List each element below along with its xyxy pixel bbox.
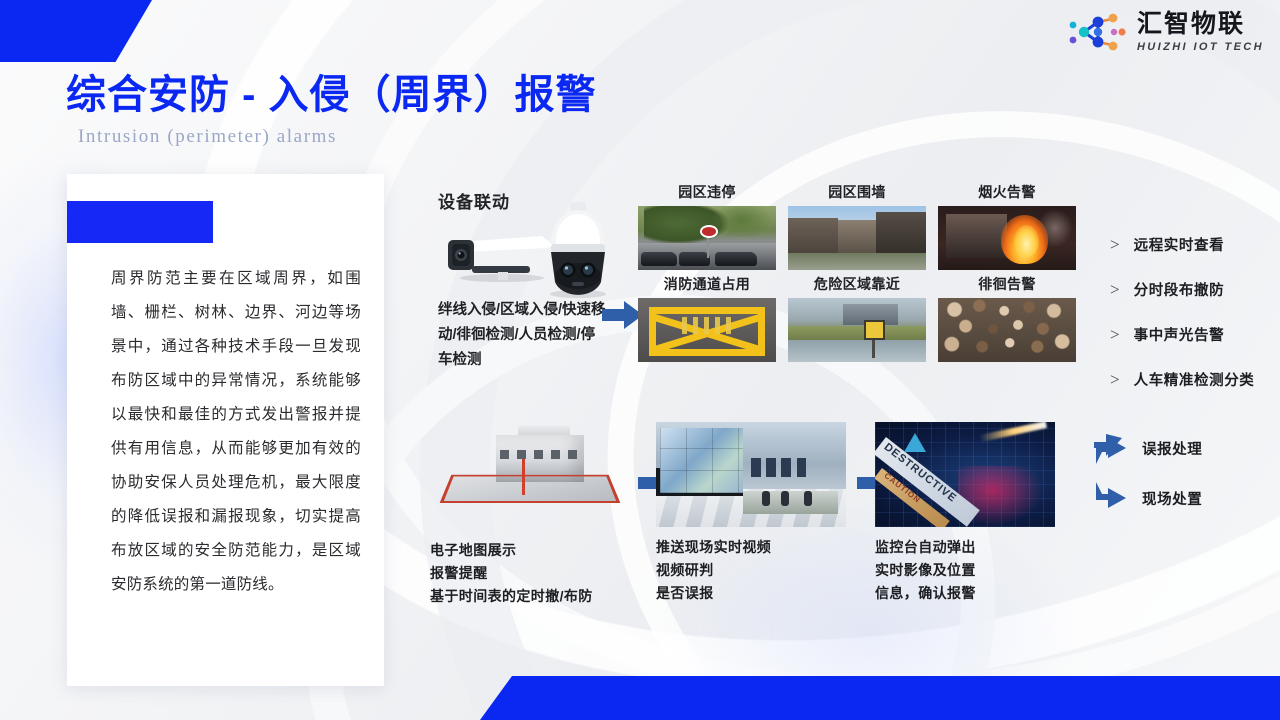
capability-label: 分时段布撤防 bbox=[1134, 279, 1225, 300]
flow-caption-line: 报警提醒 bbox=[430, 562, 640, 585]
flow-caption-line: 基于时间表的定时撤/布防 bbox=[430, 585, 640, 608]
scenario-label: 消防通道占用 bbox=[638, 274, 776, 294]
logo-text-block: 汇智物联 HUIZHI IOT TECH bbox=[1137, 12, 1264, 53]
scenario-image-crowd bbox=[938, 298, 1076, 362]
card-body-text: 周界防范主要在区域周界，如围墙、栅栏、树林、边界、河边等场景中，通过各种技术手段… bbox=[111, 262, 361, 602]
flow-step-control-room[interactable]: 推送现场实时视频 视频研判 是否误报 bbox=[656, 422, 876, 605]
scenario-grid: 园区违停 园区围墙 bbox=[638, 182, 1076, 366]
scenario-cell[interactable]: 园区围墙 bbox=[788, 182, 926, 270]
flow-caption-line: 信息，确认报警 bbox=[875, 582, 1085, 605]
flow-caption-line: 电子地图展示 bbox=[430, 539, 640, 562]
scenario-label: 徘徊告警 bbox=[938, 274, 1076, 294]
brand-logo: 汇智物联 HUIZHI IOT TECH bbox=[1068, 10, 1264, 54]
chevron-right-icon: > bbox=[1110, 325, 1120, 345]
scenario-image-fire bbox=[938, 206, 1076, 270]
flow-arrow-up-right bbox=[1092, 432, 1132, 466]
capability-item[interactable]: > 远程实时查看 bbox=[1110, 234, 1254, 255]
description-card: 周界防范主要在区域周界，如围墙、栅栏、树林、边界、河边等场景中，通过各种技术手段… bbox=[67, 174, 384, 686]
chevron-right-icon: > bbox=[1110, 370, 1120, 390]
flow-image-control-room bbox=[656, 422, 846, 527]
slide-root: 汇智物联 HUIZHI IOT TECH 综合安防 - 入侵（周界）报警 Int… bbox=[0, 0, 1280, 720]
device-section-title: 设备联动 bbox=[438, 188, 510, 213]
scenario-image-danger bbox=[788, 298, 926, 362]
chevron-right-icon: > bbox=[1110, 235, 1120, 255]
flow-step-alert-popup[interactable]: DESTRUCTIVE CAUTION 监控台自动弹出 实时影像及位置 信息，确… bbox=[875, 422, 1085, 605]
flow-caption-line: 推送现场实时视频 bbox=[656, 536, 876, 559]
scenario-image-parking bbox=[638, 206, 776, 270]
warning-triangle-icon bbox=[904, 433, 926, 452]
scenario-row-2: 消防通道占用 危险区域靠近 徘徊告警 bbox=[638, 274, 1076, 362]
diagram-area: 设备联动 bbox=[420, 170, 1280, 650]
scenario-label: 园区围墙 bbox=[788, 182, 926, 202]
scenario-cell[interactable]: 烟火告警 bbox=[938, 182, 1076, 270]
flow-caption-line: 监控台自动弹出 bbox=[875, 536, 1085, 559]
card-accent-bar bbox=[67, 201, 213, 243]
capability-label: 事中声光告警 bbox=[1134, 324, 1225, 345]
scenario-cell[interactable]: 危险区域靠近 bbox=[788, 274, 926, 362]
scenario-image-wall bbox=[788, 206, 926, 270]
flow-image-emap bbox=[430, 422, 630, 530]
scenario-cell[interactable]: 消防通道占用 bbox=[638, 274, 776, 362]
flow-caption-line: 视频研判 bbox=[656, 559, 876, 582]
top-left-blue-shape bbox=[0, 0, 152, 62]
capability-item[interactable]: > 事中声光告警 bbox=[1110, 324, 1254, 345]
scenario-label: 园区违停 bbox=[638, 182, 776, 202]
capability-list: > 远程实时查看 > 分时段布撤防 > 事中声光告警 > 人车精准检测分类 bbox=[1110, 234, 1254, 414]
device-caption: 绊线入侵/区域入侵/快速移动/徘徊检测/人员检测/停车检测 bbox=[438, 298, 608, 373]
outcome-label-false-alarm: 误报处理 bbox=[1142, 438, 1202, 459]
chevron-right-icon: > bbox=[1110, 280, 1120, 300]
page-subtitle: Intrusion (perimeter) alarms bbox=[78, 126, 337, 148]
flow-image-alert-popup: DESTRUCTIVE CAUTION bbox=[875, 422, 1055, 527]
flow-arrow-down-right bbox=[1092, 480, 1132, 514]
page-title: 综合安防 - 入侵（周界）报警 bbox=[66, 62, 597, 120]
outcome-label-onsite: 现场处置 bbox=[1142, 488, 1202, 509]
flow-step-emap[interactable]: 电子地图展示 报警提醒 基于时间表的定时撤/布防 bbox=[430, 422, 640, 608]
capability-label: 远程实时查看 bbox=[1134, 234, 1225, 255]
scenario-row-1: 园区违停 园区围墙 bbox=[638, 182, 1076, 270]
scenario-image-lane bbox=[638, 298, 776, 362]
capability-item[interactable]: > 分时段布撤防 bbox=[1110, 279, 1254, 300]
bottom-blue-bar bbox=[480, 676, 1280, 720]
response-flow: 电子地图展示 报警提醒 基于时间表的定时撤/布防 bbox=[420, 422, 1280, 652]
scenario-label: 危险区域靠近 bbox=[788, 274, 926, 294]
capability-label: 人车精准检测分类 bbox=[1134, 369, 1255, 390]
ptz-dome-camera-icon bbox=[538, 200, 618, 298]
scenario-cell[interactable]: 徘徊告警 bbox=[938, 274, 1076, 362]
logo-chinese-name: 汇智物联 bbox=[1137, 12, 1264, 37]
scenario-label: 烟火告警 bbox=[938, 182, 1076, 202]
logo-molecule-icon bbox=[1068, 10, 1128, 54]
logo-english-name: HUIZHI IOT TECH bbox=[1137, 42, 1264, 53]
flow-caption-line: 实时影像及位置 bbox=[875, 559, 1085, 582]
capability-item[interactable]: > 人车精准检测分类 bbox=[1110, 369, 1254, 390]
scenario-cell[interactable]: 园区违停 bbox=[638, 182, 776, 270]
flow-caption-line: 是否误报 bbox=[656, 582, 876, 605]
